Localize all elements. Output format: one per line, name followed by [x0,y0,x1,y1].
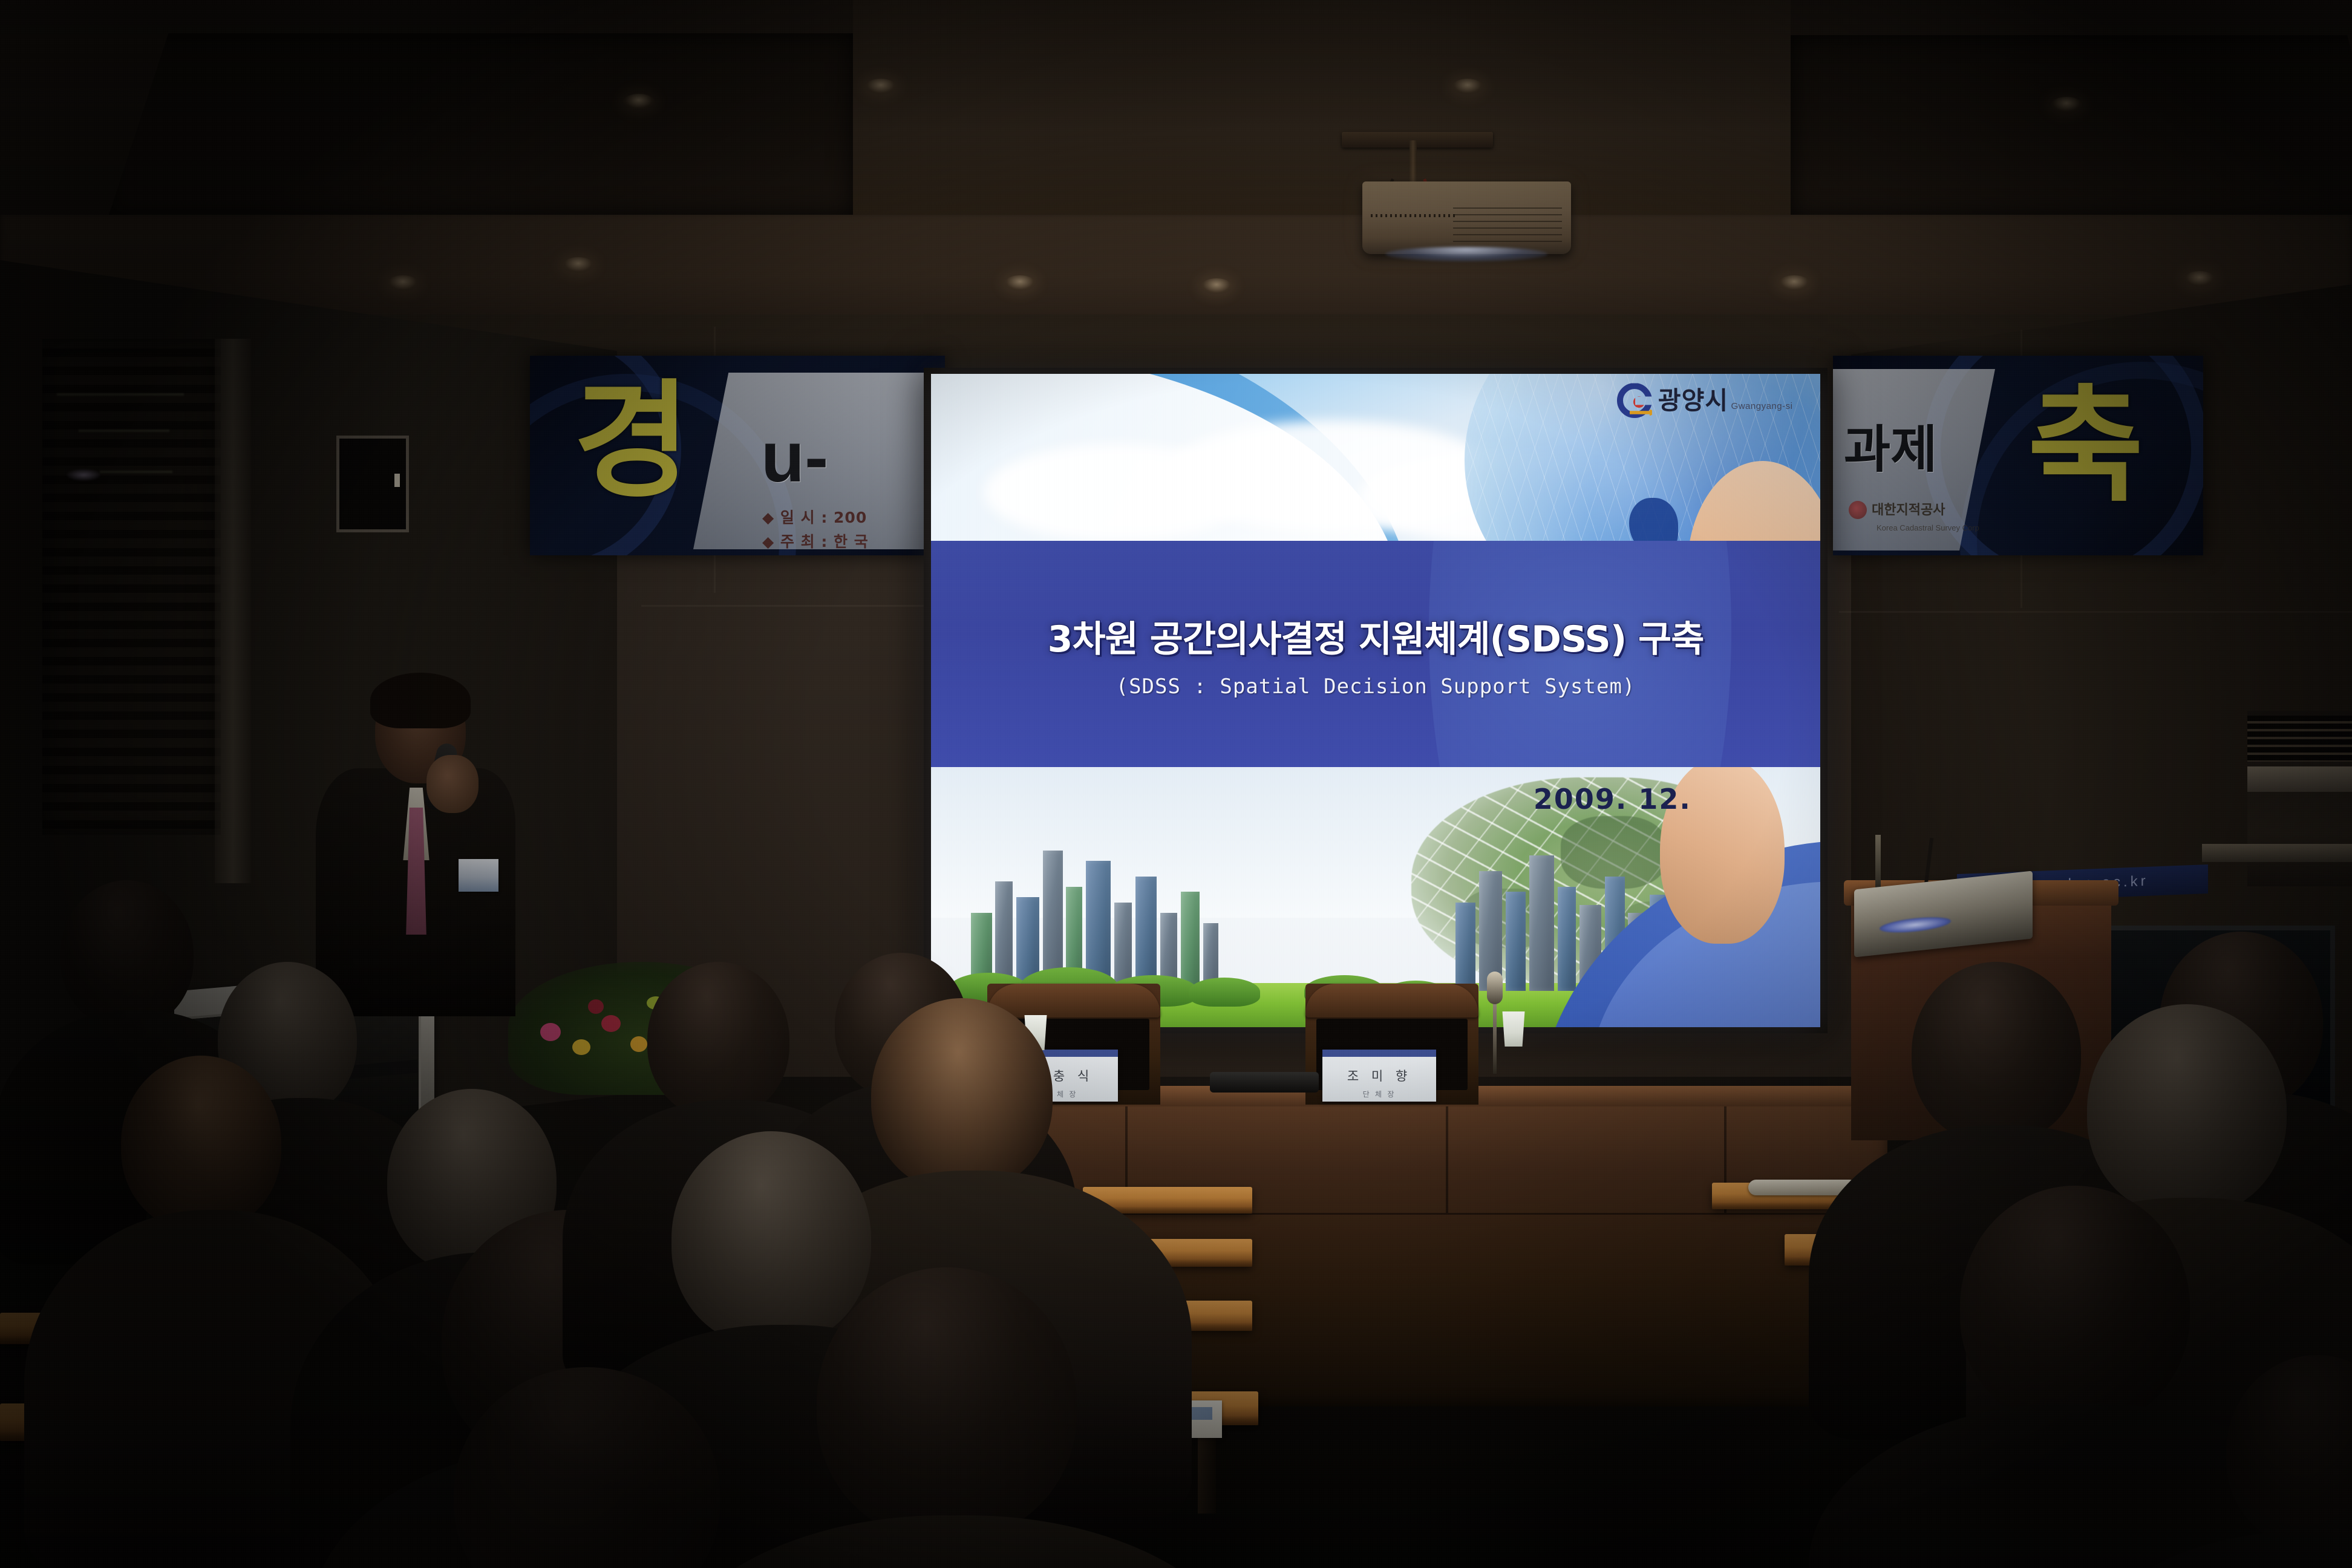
audience-head [871,998,1053,1192]
chair-crest [987,984,1160,1018]
logo-name-en: Gwangyang-si [1731,401,1793,411]
banner-right: 과제 축 대한지적공사 Korea Cadastral Survey Corp [1833,356,2203,555]
flower-bloom [540,1023,561,1041]
banner-left: 경 u- ◆ 일 시 : 200 ◆ 주 최 : 한 국 [530,356,945,555]
audience-head [647,962,789,1118]
audience-head [1960,1186,2190,1428]
door-jamb [215,339,251,883]
banner-left-hangul: 경 [573,381,690,502]
tree-shape [1189,978,1260,1006]
microphone-head [1487,972,1503,1004]
projection-screen: 광양시 Gwangyang-si 3차원 공간의사결정 지원체계(SDSS) 구… [924,368,1828,1033]
microphone-stand [1493,992,1497,1074]
projector-ceiling-plate [1342,132,1493,148]
ac-louvers [2247,716,2352,762]
gwangyang-logo-mark-icon [1617,383,1652,418]
building-shape [1558,887,1575,991]
downlight-icon [1004,275,1036,291]
logo-names: 광양시 Gwangyang-si [1658,388,1793,413]
blind-light-slit [100,471,172,473]
downlight-icon [1452,79,1483,94]
ceiling-center-beam [853,0,1791,218]
table-panel-line [1446,1106,1448,1213]
presenter-name-badge [459,859,498,892]
downlight-icon [387,275,419,291]
banner-sponsor-logo-en: Korea Cadastral Survey Corp [1877,524,1979,532]
projector-port-panel [1453,207,1562,242]
downlight-icon [865,79,897,94]
ceiling-panel-right [1791,35,2352,217]
audience-head [60,880,194,1028]
ohp-lens-glow [1880,915,1951,935]
downlight-icon [2051,97,2082,113]
logo-red-dot-icon [1633,396,1645,408]
desk-telephone [1210,1072,1319,1093]
wall-seam [641,605,926,607]
presenter-hair [370,673,471,728]
sponsor-mark-icon [1849,501,1867,519]
panel-led-icon [394,474,400,487]
projector-vent-grill [1371,214,1455,217]
nameplate-title: 단 체 장 [1322,1089,1436,1099]
sponsor-name-en: Korea Cadastral Survey Corp [1877,524,1979,532]
downlight-icon [563,257,594,273]
projector-mount-pole [1410,140,1417,188]
blind-highlight [67,469,100,481]
slide-date: 2009. 12. [1534,783,1691,815]
blind-light-slit [79,430,169,432]
conference-room-photo: 경 u- ◆ 일 시 : 200 ◆ 주 최 : 한 국 과제 축 대한지적공사… [0,0,2352,1568]
building-shape [1529,855,1554,991]
flower-bloom [588,999,604,1014]
slide-title: 3차원 공간의사결정 지원체계(SDSS) 구축 [1048,610,1704,662]
wall-seam [1839,611,2352,613]
downlight-icon [623,94,655,109]
banner-right-black-text: 과제 [1844,409,1938,482]
ceiling-projector [1362,181,1571,254]
presentation-slide: 광양시 Gwangyang-si 3차원 공간의사결정 지원체계(SDSS) 구… [931,374,1820,1027]
logo-name-kr: 광양시 [1658,386,1728,415]
building-shape [1506,892,1526,990]
banner-right-hangul: 축 [2028,387,2143,507]
logo-yellow-arrow-icon [1630,409,1658,416]
nameplate-name: 조 미 향 [1322,1067,1436,1085]
audience-head [2087,1004,2287,1216]
ceiling [0,0,2352,327]
blind-light-slit [57,393,184,396]
gwangyang-logo: 광양시 Gwangyang-si [1617,383,1793,418]
wall-shelf [2202,844,2352,862]
downlight-icon [1201,278,1232,294]
slide-header: 광양시 Gwangyang-si [931,374,1820,541]
window-blinds[interactable] [42,339,221,835]
downlight-icon [1779,275,1810,291]
slide-title-band: 3차원 공간의사결정 지원체계(SDSS) 구축 (SDSS : Spatial… [931,541,1820,767]
building-shape [1181,892,1200,990]
audience-head [121,1056,281,1231]
sponsor-name: 대한지적공사 [1872,503,1945,517]
building-shape [1135,877,1157,991]
flower-bloom [572,1039,590,1055]
presenter-hand [426,755,479,813]
ac-front-face [2247,766,2352,792]
audience-head [817,1267,1077,1540]
audience-head [1912,962,2081,1143]
audience-head [671,1131,871,1346]
banner-left-meta-1: ◆ 일 시 : 200 [762,506,867,528]
downlight-icon [2184,271,2215,287]
banner-left-meta-2: ◆ 주 최 : 한 국 [762,530,869,552]
nameplate-card: 조 미 향 단 체 장 [1322,1050,1436,1102]
ceiling-soffit [0,215,2352,327]
wall-control-panel[interactable] [336,436,409,532]
projector-lens-glow [1385,247,1547,261]
building-shape [1455,903,1475,991]
banner-left-roman: u- [761,416,828,498]
banner-sponsor-logo: 대한지적공사 [1849,501,1945,519]
ohp-arm [1875,835,1881,889]
flower-bloom [601,1015,621,1032]
slide-subtitle: (SDSS : Spatial Decision Support System) [1116,675,1636,699]
presenter [302,678,520,1016]
ceiling-panel-left [109,33,853,215]
chair-crest [1305,984,1478,1018]
